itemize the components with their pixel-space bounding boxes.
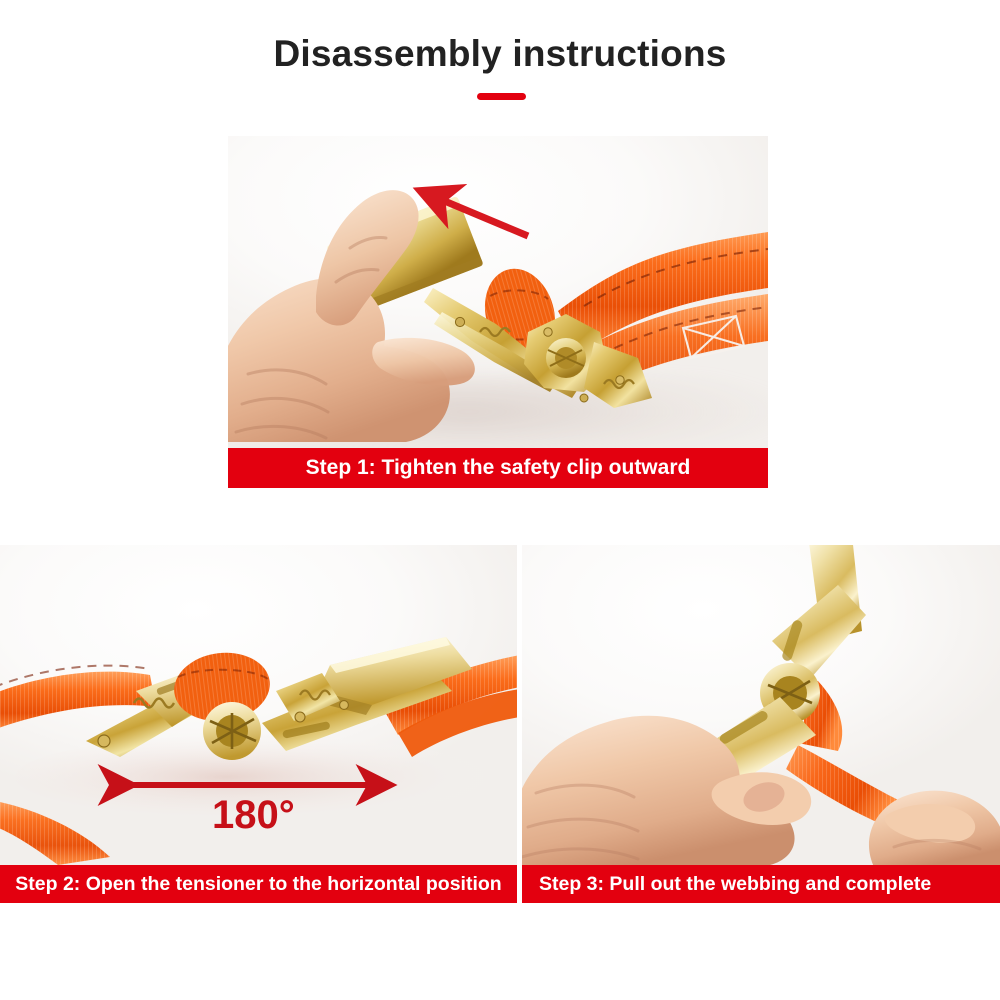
step3-caption-bar: Step 3: Pull out the webbing and complet… [522,865,1000,903]
title-underline-accent [477,93,526,100]
step-panel-2: 180° Step 2: Open the tensioner to the h… [0,545,517,903]
step2-photo: 180° [0,545,517,903]
step2-caption-bar: Step 2: Open the tensioner to the horizo… [0,865,517,903]
step3-scene-graphic [522,545,1000,865]
header: Disassembly instructions [0,0,1000,130]
step-panel-1: Step 1: Tighten the safety clip outward [228,136,768,488]
step1-caption-bar: Step 1: Tighten the safety clip outward [228,448,768,488]
angle-label-180: 180° [212,793,295,838]
step1-photo [228,136,768,488]
step-panel-3: Step 3: Pull out the webbing and complet… [522,545,1000,903]
step1-direction-arrow [228,136,768,448]
step1-caption-text: Step 1: Tighten the safety clip outward [306,456,691,480]
instruction-sheet: Disassembly instructions [0,0,1000,1000]
step3-photo [522,545,1000,903]
step3-caption-text: Step 3: Pull out the webbing and complet… [539,873,931,896]
page-title: Disassembly instructions [0,32,1000,76]
step2-caption-text: Step 2: Open the tensioner to the horizo… [15,873,501,896]
